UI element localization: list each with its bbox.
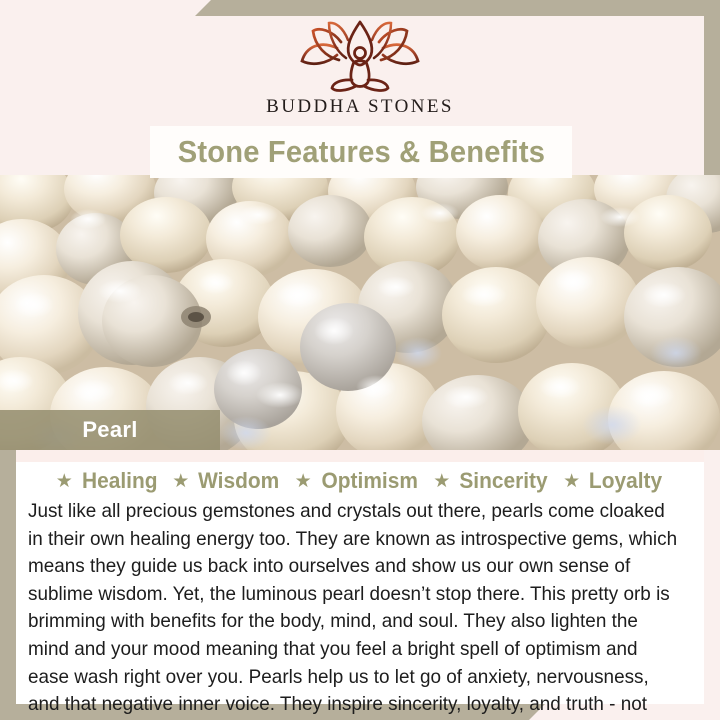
benefit-item: ★ Loyalty (563, 468, 664, 494)
star-icon: ★ (433, 472, 450, 491)
stone-name-label: Pearl (0, 410, 220, 450)
description-text: Just like all precious gemstones and cry… (28, 498, 677, 720)
benefit-label: Optimism (321, 468, 417, 494)
stone-name-text: Pearl (82, 417, 137, 443)
star-icon: ★ (56, 472, 73, 491)
star-icon: ★ (563, 472, 580, 491)
benefits-list: ★ Healing ★ Wisdom ★ Optimism ★ Sincerit… (16, 468, 704, 494)
stone-photo: Pearl (0, 175, 720, 450)
section-title-banner: Stone Features & Benefits (150, 126, 572, 178)
benefit-label: Sincerity (460, 468, 548, 494)
panel-top-strip (16, 450, 704, 462)
benefit-label: Wisdom (198, 468, 279, 494)
benefit-item: ★ Optimism (295, 468, 421, 494)
benefit-label: Loyalty (589, 468, 662, 494)
page-root: BUDDHA STONES Stone Features & Benefits (0, 0, 720, 720)
star-icon: ★ (295, 472, 312, 491)
page-title: Stone Features & Benefits (177, 134, 544, 170)
benefit-item: ★ Healing (56, 468, 160, 494)
decorative-band-left (0, 420, 16, 720)
brand-name: BUDDHA STONES (266, 96, 454, 118)
benefit-item: ★ Sincerity (433, 468, 550, 494)
benefit-item: ★ Wisdom (172, 468, 281, 494)
lotus-meditation-icon (289, 18, 431, 92)
benefit-label: Healing (82, 468, 157, 494)
star-icon: ★ (172, 472, 189, 491)
brand-header: BUDDHA STONES (0, 0, 720, 128)
